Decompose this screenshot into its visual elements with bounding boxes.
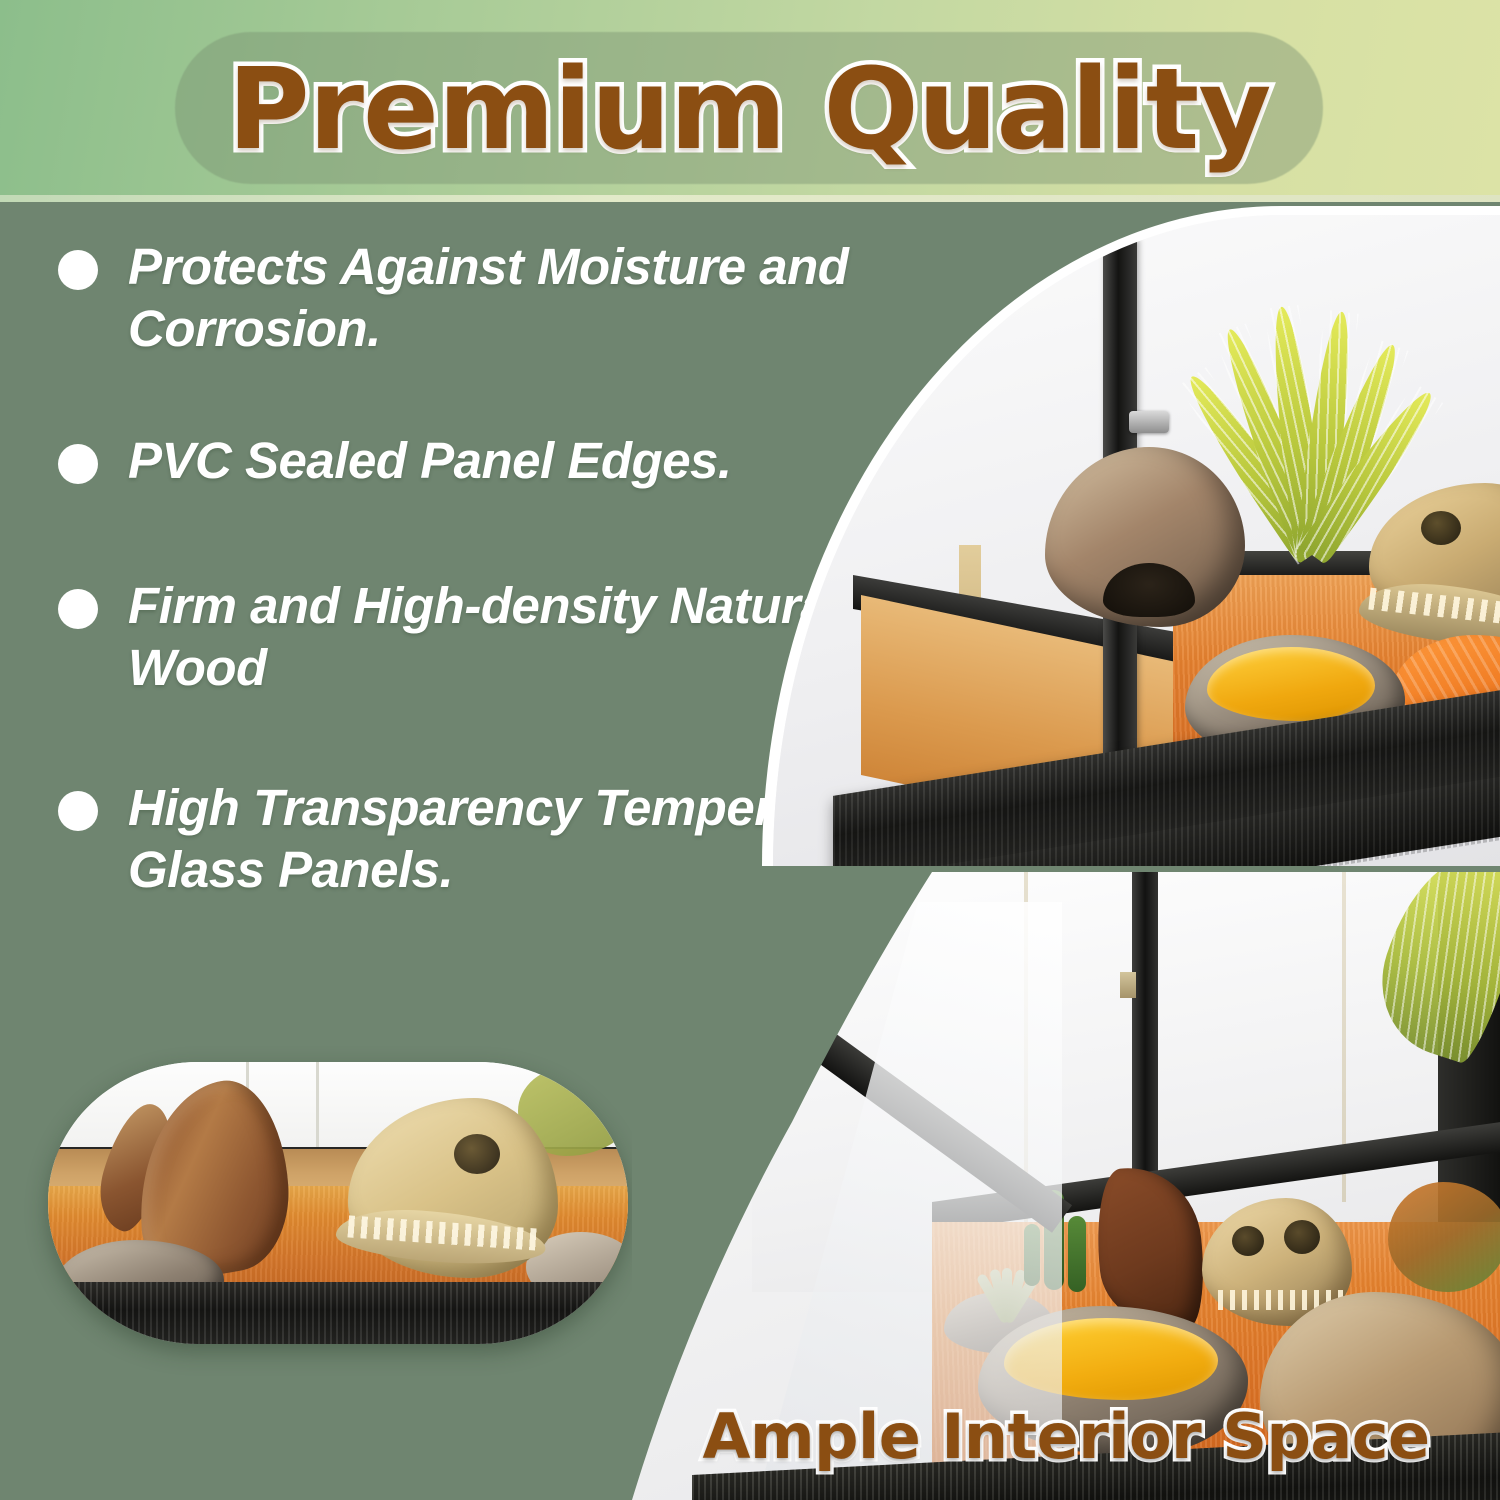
caption-ample-interior-space: Ample Interior Space (632, 1392, 1500, 1480)
skull-eye (1284, 1220, 1320, 1254)
skull-eye (1421, 511, 1461, 545)
inset-wood-base-texture (48, 1282, 628, 1344)
list-item: Firm and High-density Natural Wood (58, 575, 858, 699)
cactus-decor (1068, 1216, 1086, 1292)
water-dish-water (1207, 647, 1375, 721)
bullet-dot-icon (58, 589, 98, 629)
feature-list: Protects Against Moisture and Corrosion.… (58, 236, 858, 972)
bullet-dot-icon (58, 444, 98, 484)
screw-icon (1129, 411, 1169, 433)
bullet-dot-icon (58, 791, 98, 831)
inset-glass-seam (316, 1062, 319, 1149)
bullet-dot-icon (58, 250, 98, 290)
plant-decor-right (1388, 1182, 1500, 1292)
frame-post (1132, 872, 1158, 1172)
skull-eye (1232, 1226, 1264, 1256)
list-item: PVC Sealed Panel Edges. (58, 430, 858, 492)
header-band: Premium Quality (0, 0, 1500, 202)
hinge-icon (1120, 972, 1136, 998)
feature-label-pvc-edges: PVC Sealed Panel Edges. (128, 430, 732, 492)
page-title: Premium Quality (175, 30, 1323, 190)
feature-label-moisture: Protects Against Moisture and Corrosion. (128, 236, 858, 360)
inset-skull-eye (454, 1134, 500, 1174)
list-item: Protects Against Moisture and Corrosion. (58, 236, 858, 360)
infographic-page: Premium Quality Protects Against Moistur… (0, 0, 1500, 1500)
terrarium-driftwood-skull-inset (48, 1062, 628, 1344)
terrarium-corner-closeup (762, 206, 1500, 866)
feature-label-natural-wood: Firm and High-density Natural Wood (128, 575, 858, 699)
